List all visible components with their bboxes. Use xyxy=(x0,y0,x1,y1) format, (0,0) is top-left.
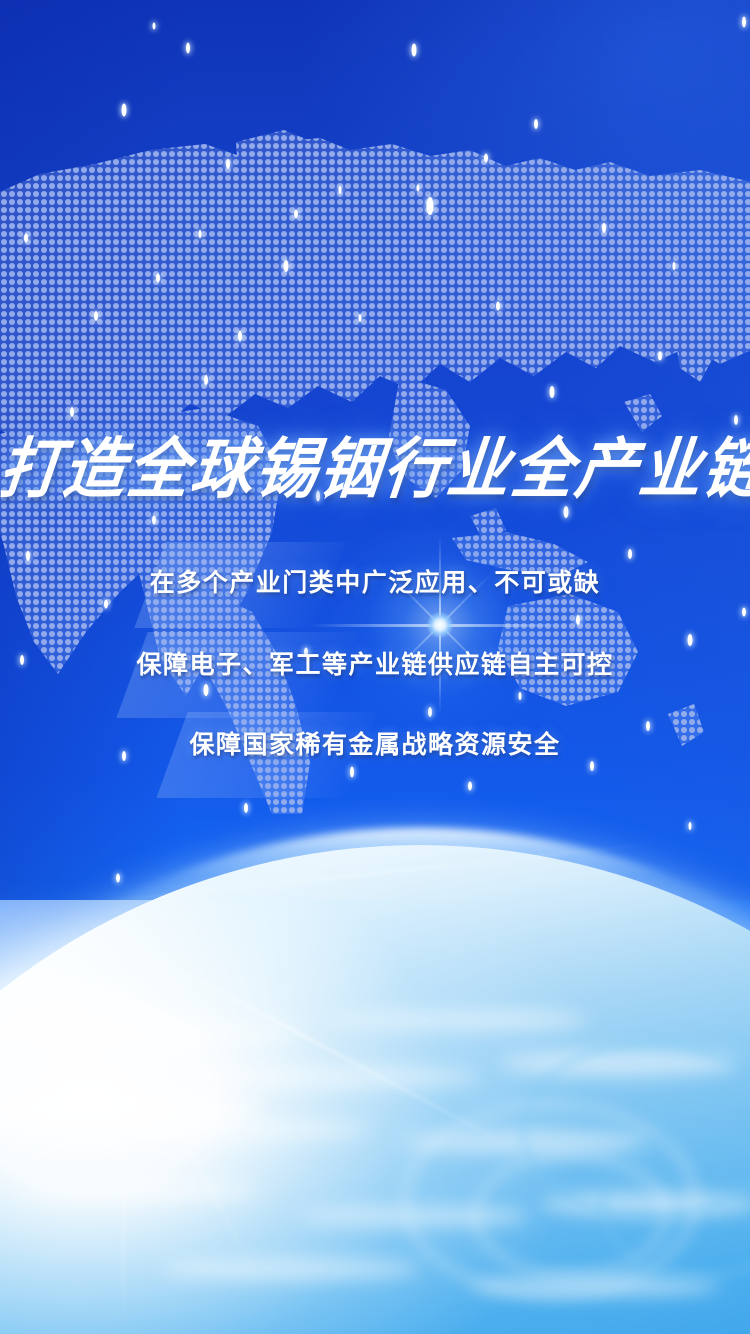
poster-subtitle-2: 保障电子、军工等产业链供应链自主可控 xyxy=(0,645,750,681)
poster-subtitle-1: 在多个产业门类中广泛应用、不可或缺 xyxy=(0,563,750,599)
poster-canvas: 打造全球锡铟行业全产业链链主 在多个产业门类中广泛应用、不可或缺 保障电子、军工… xyxy=(0,0,750,1334)
sun-ray-vertical xyxy=(122,1090,125,1334)
cloud-layer xyxy=(0,980,750,1334)
poster-subtitle-3: 保障国家稀有金属战略资源安全 xyxy=(0,725,750,761)
lens-flare-star-icon xyxy=(439,624,441,626)
poster-title: 打造全球锡铟行业全产业链链主 xyxy=(0,415,750,510)
